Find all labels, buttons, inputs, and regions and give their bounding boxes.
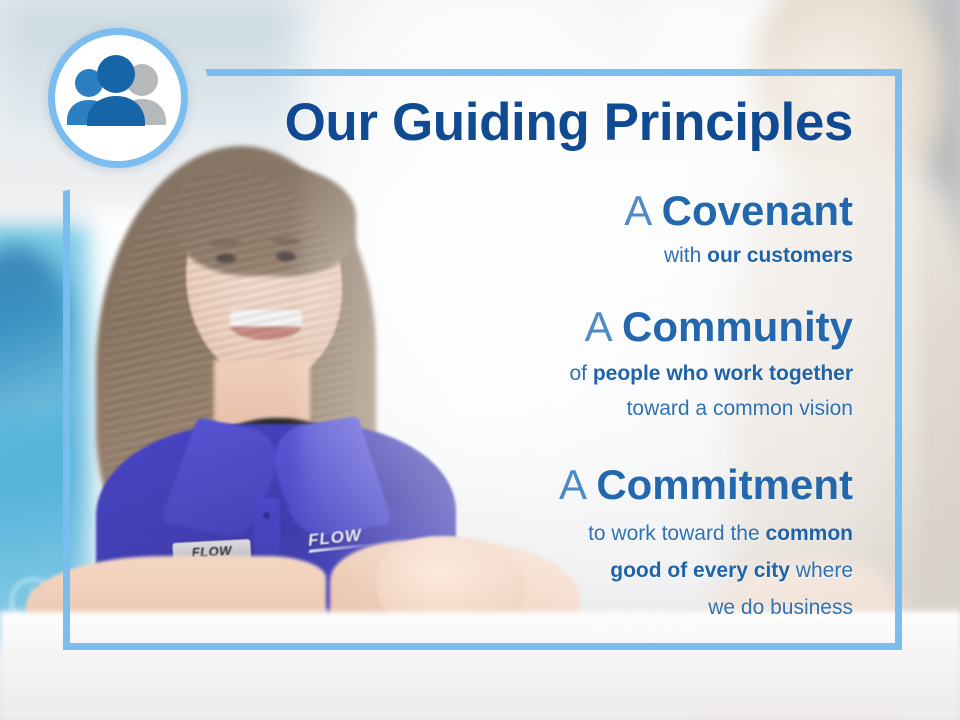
principle-covenant-article: A xyxy=(624,187,661,234)
principle-community-heading: A Community xyxy=(0,302,853,352)
principle-commitment-heading: A Commitment xyxy=(0,460,853,510)
principle-community-line-1-b: people who work together xyxy=(593,362,853,385)
principle-commitment-line-1-a: to work toward the xyxy=(588,522,765,545)
principle-commitment-keyword: Commitment xyxy=(596,461,853,508)
principle-commitment-line-2-a: good of every city xyxy=(610,559,790,582)
principle-community-keyword: Community xyxy=(622,303,853,350)
page-title: Our Guiding Principles xyxy=(0,92,915,153)
principle-covenant-line-1-a: with xyxy=(664,244,707,267)
principle-community: A Community of people who work together … xyxy=(0,302,915,422)
principle-community-line-1: of people who work together xyxy=(0,360,853,387)
principle-commitment-line-1: to work toward the common xyxy=(0,520,853,547)
principle-community-line-1-a: of xyxy=(569,362,592,385)
text-content: Our Guiding Principles A Covenant with o… xyxy=(0,0,960,720)
principle-covenant: A Covenant with our customers xyxy=(0,186,915,269)
principle-community-line-2: toward a common vision xyxy=(0,395,853,422)
principle-commitment-article: A xyxy=(559,461,596,508)
principle-commitment-line-1-b: common xyxy=(765,522,853,545)
principle-commitment-line-2: good of every city where xyxy=(0,557,853,584)
principle-covenant-keyword: Covenant xyxy=(662,187,853,234)
principle-community-article: A xyxy=(585,303,622,350)
principle-commitment: A Commitment to work toward the common g… xyxy=(0,460,915,621)
principle-covenant-line-1: with our customers xyxy=(0,242,853,269)
principle-commitment-line-2-b: where xyxy=(790,559,853,582)
principle-covenant-heading: A Covenant xyxy=(0,186,853,236)
principle-commitment-line-3: we do business xyxy=(0,594,853,621)
principle-covenant-line-1-b: our customers xyxy=(707,244,853,267)
